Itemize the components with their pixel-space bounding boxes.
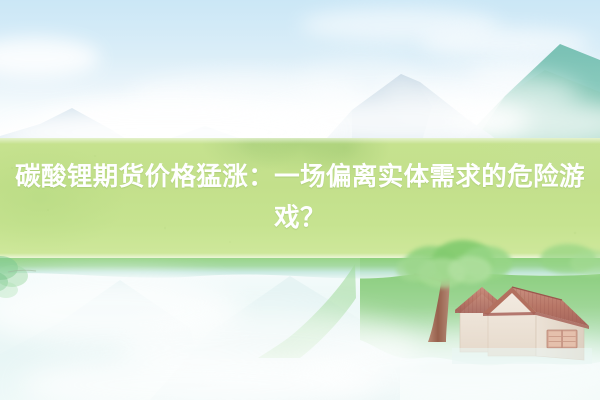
tree-branch [448,264,484,278]
cottage-house [452,282,592,364]
tree-trunk [428,274,450,342]
banner-image: 碳酸锂期货价格猛涨：一场偏离实体需求的危险游戏？ [0,0,600,400]
house-base-fade [452,348,592,364]
house-window-pane [549,331,562,346]
house-window-pane [563,331,576,346]
page-title: 碳酸锂期货价格猛涨：一场偏离实体需求的危险游戏？ [0,138,600,258]
tree-branch [414,274,444,282]
title-band: 碳酸锂期货价格猛涨：一场偏离实体需求的危险游戏？ [0,138,600,258]
mountain-range [0,0,600,148]
